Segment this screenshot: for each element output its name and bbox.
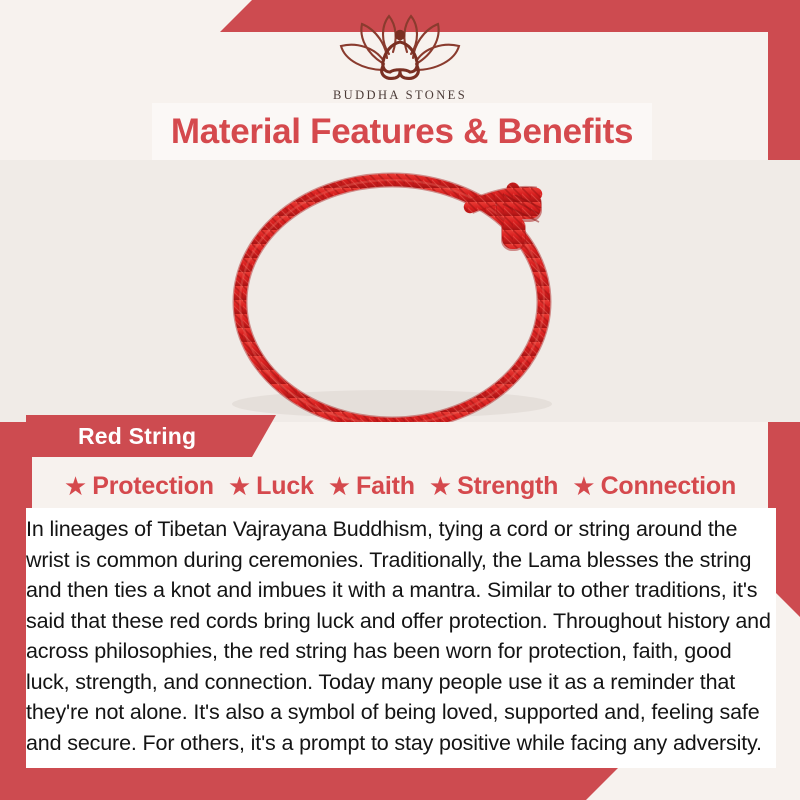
red-string-bracelet-illustration bbox=[0, 160, 800, 422]
feature-label: Protection bbox=[92, 472, 214, 501]
feature-label: Strength bbox=[457, 472, 558, 501]
star-icon: ★ bbox=[228, 473, 251, 499]
star-icon: ★ bbox=[429, 473, 452, 499]
feature-item-strength: ★ Strength bbox=[429, 472, 558, 501]
page-title: Material Features & Benefits bbox=[171, 112, 633, 152]
feature-item-faith: ★ Faith bbox=[328, 472, 415, 501]
product-name-ribbon: Red String bbox=[26, 415, 276, 457]
decorative-band-bottom bbox=[0, 766, 620, 800]
feature-label: Luck bbox=[256, 472, 314, 501]
lotus-meditation-icon bbox=[327, 8, 473, 86]
page-title-bar: Material Features & Benefits bbox=[152, 103, 652, 160]
infographic-poster: BUDDHA STONES Material Features & Benefi… bbox=[0, 0, 800, 800]
feature-item-protection: ★ Protection bbox=[64, 472, 214, 501]
star-icon: ★ bbox=[64, 473, 87, 499]
feature-label: Connection bbox=[601, 472, 737, 501]
brand-logo: BUDDHA STONES bbox=[0, 8, 800, 103]
feature-item-connection: ★ Connection bbox=[572, 472, 736, 501]
product-name-label: Red String bbox=[78, 423, 196, 450]
star-icon: ★ bbox=[328, 473, 351, 499]
feature-list: ★ Protection ★ Luck ★ Faith ★ Strength ★… bbox=[0, 466, 800, 506]
star-icon: ★ bbox=[572, 473, 595, 499]
brand-name: BUDDHA STONES bbox=[333, 88, 467, 103]
sliding-knot bbox=[496, 183, 542, 252]
description-block: In lineages of Tibetan Vajrayana Buddhis… bbox=[26, 508, 776, 768]
feature-label: Faith bbox=[356, 472, 415, 501]
description-text: In lineages of Tibetan Vajrayana Buddhis… bbox=[26, 514, 776, 758]
feature-item-luck: ★ Luck bbox=[228, 472, 314, 501]
product-photo bbox=[0, 160, 800, 422]
